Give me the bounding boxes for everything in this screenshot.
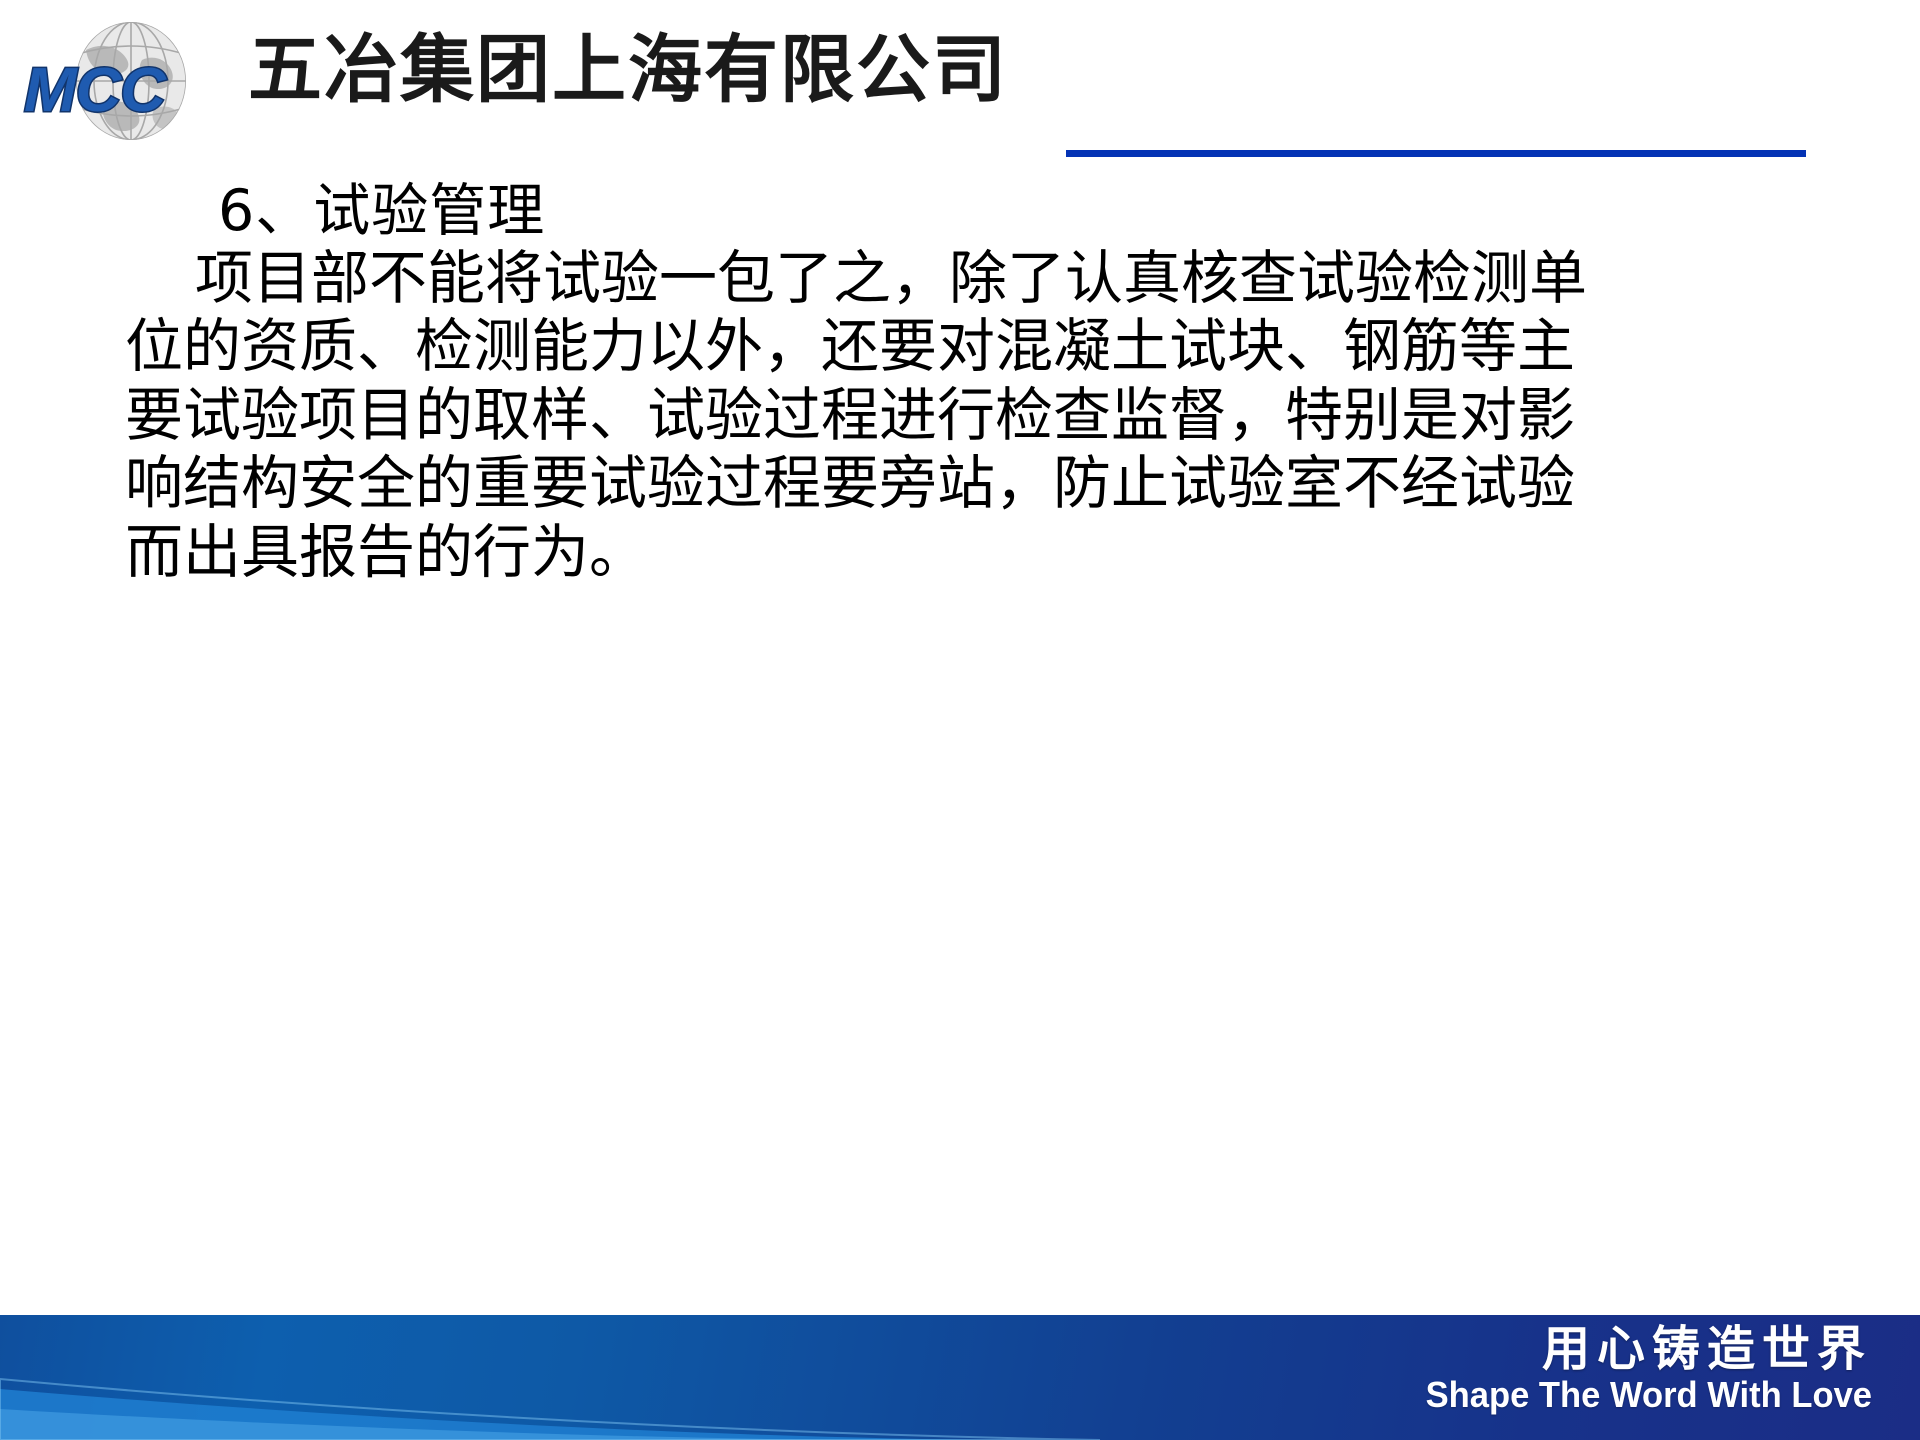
footer-slogan-cn: 用心铸造世界 [1407, 1325, 1872, 1373]
slide-canvas: MCC 五冶集团上海有限公司 6、试验管理 项目部不能将试验一包了之，除了认真核… [0, 0, 1920, 1440]
paragraph-line-1: 项目部不能将试验一包了之，除了认真核查试验检测单 [0, 244, 1920, 312]
section-heading: 6、试验管理 [0, 180, 1920, 244]
mcc-logo-text: MCC [24, 60, 233, 122]
paragraph-line-2: 位的资质、检测能力以外，还要对混凝土试块、钢筋等主 [0, 312, 1920, 380]
footer-slogan: 用心铸造世界 Shape The Word With Love [1407, 1325, 1872, 1413]
mcc-logo: MCC [18, 18, 233, 143]
slide-footer: 用心铸造世界 Shape The Word With Love [0, 1315, 1920, 1440]
company-title: 五冶集团上海有限公司 [248, 33, 1008, 107]
body-paragraph: 项目部不能将试验一包了之，除了认真核查试验检测单 位的资质、检测能力以外，还要对… [0, 244, 1920, 586]
footer-slogan-en: Shape The Word With Love [1426, 1377, 1872, 1413]
paragraph-line-5: 而出具报告的行为。 [0, 518, 1920, 586]
slide-content: 6、试验管理 项目部不能将试验一包了之，除了认真核查试验检测单 位的资质、检测能… [0, 180, 1920, 586]
header-underline-rule [1066, 150, 1806, 157]
paragraph-line-4: 响结构安全的重要试验过程要旁站，防止试验室不经试验 [0, 449, 1920, 517]
slide-header: MCC 五冶集团上海有限公司 [0, 0, 1920, 165]
paragraph-line-3: 要试验项目的取样、试验过程进行检查监督，特别是对影 [0, 381, 1920, 449]
